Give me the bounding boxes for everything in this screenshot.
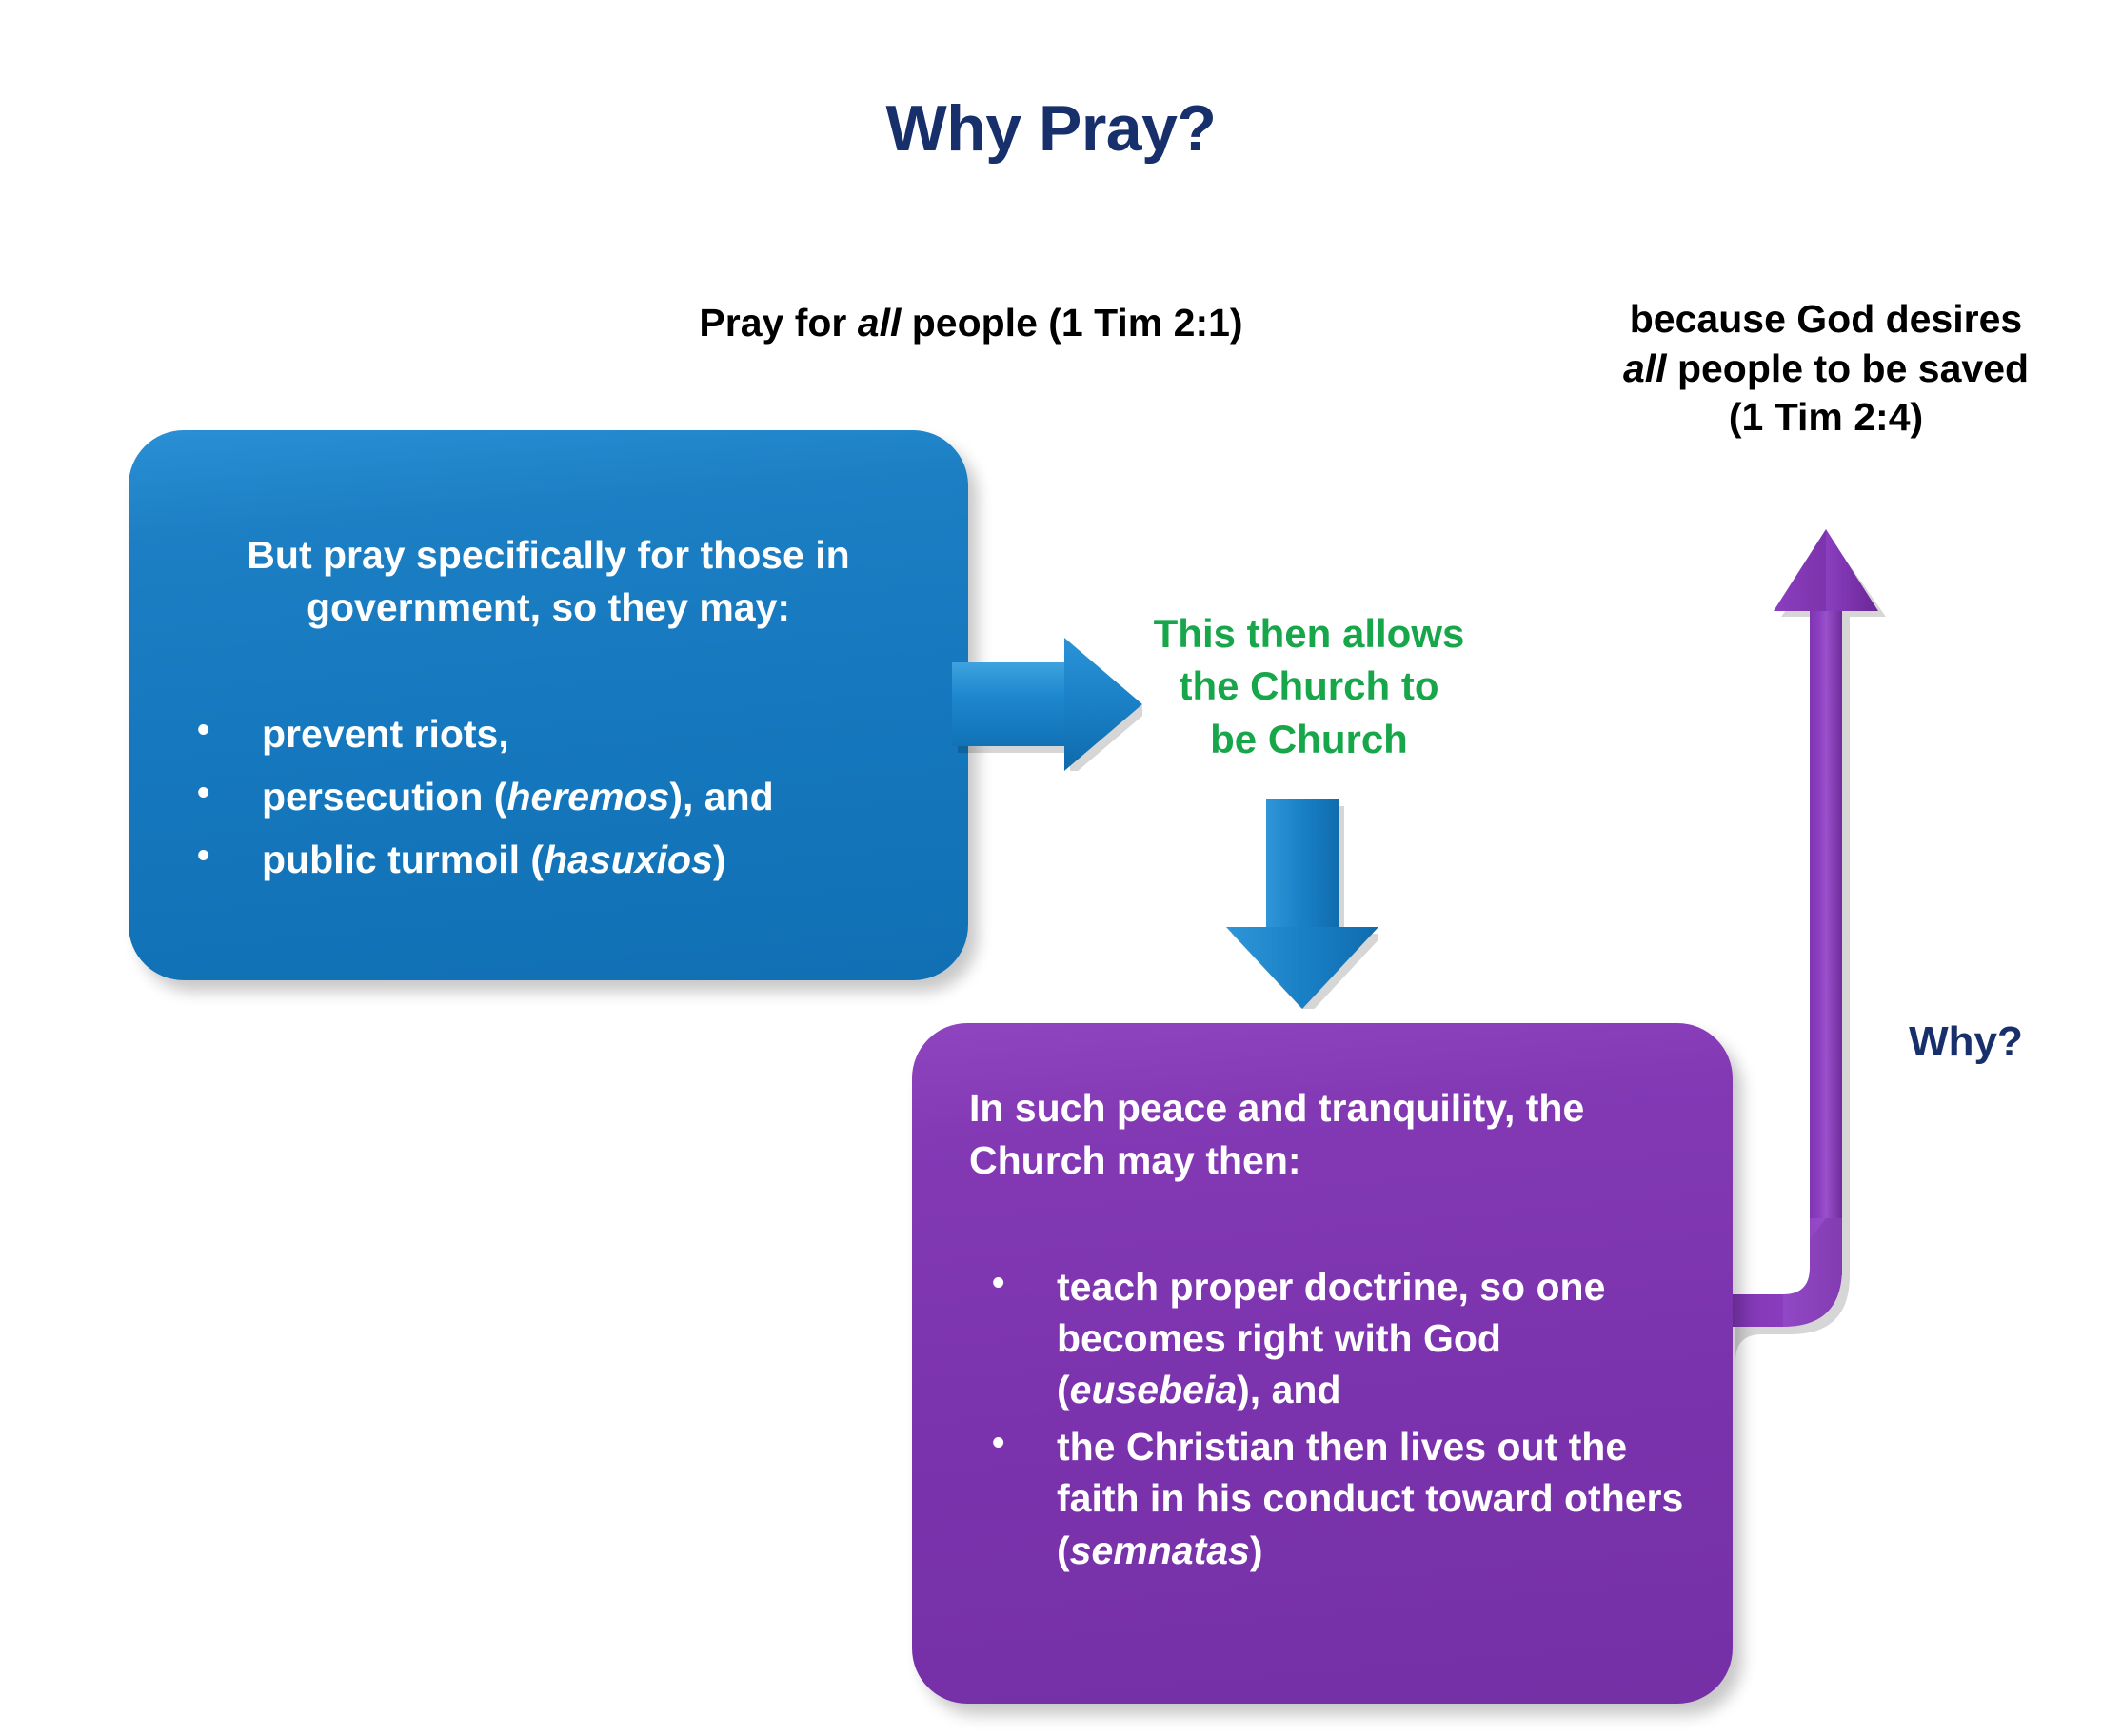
arrow-down-icon	[1226, 799, 1378, 1009]
green-note-church-be-church: This then allows the Church to be Church	[1104, 607, 1514, 765]
bullet-text: persecution (	[262, 775, 506, 819]
green-note-line1: This then allows	[1154, 611, 1465, 656]
bullet-text: prevent riots,	[262, 712, 509, 756]
bullet-italic: eusebeia	[1070, 1368, 1238, 1411]
blue-box-heading: But pray specifically for those in gover…	[172, 529, 924, 633]
list-item: teach proper doctrine, so one becomes ri…	[979, 1261, 1702, 1415]
purple-church-outcomes-box: In such peace and tranquility, the Churc…	[912, 1023, 1733, 1704]
bullet-italic: semnatas	[1070, 1529, 1250, 1572]
blue-government-prayer-box: But pray specifically for those in gover…	[129, 430, 968, 980]
caption-left-suffix: people (1 Tim 2:1)	[901, 301, 1242, 345]
slide-canvas: Why Pray? Pray for all people (1 Tim 2:1…	[0, 0, 2102, 1736]
list-item: persecution (heremos), and	[184, 771, 945, 822]
bullet-tail: )	[1250, 1529, 1263, 1572]
bullet-tail: ), and	[669, 775, 773, 819]
page-title: Why Pray?	[0, 91, 2102, 166]
caption-right-emphasis: all	[1623, 346, 1667, 390]
caption-right-line1: because God desires	[1630, 297, 2022, 341]
purple-box-heading: In such peace and tranquility, the Churc…	[969, 1082, 1693, 1186]
caption-god-desires: because God desires all people to be sav…	[1588, 295, 2064, 443]
purple-box-bullet-list: teach proper doctrine, so one becomes ri…	[979, 1261, 1702, 1582]
why-label: Why?	[1847, 1018, 2085, 1066]
caption-left-prefix: Pray for	[699, 301, 857, 345]
list-item: public turmoil (hasuxios)	[184, 834, 945, 885]
bullet-tail: )	[713, 838, 726, 881]
bullet-italic: heremos	[506, 775, 669, 819]
green-note-line3: be Church	[1210, 717, 1408, 761]
blue-box-bullet-list: prevent riots, persecution (heremos), an…	[184, 708, 945, 897]
caption-right-line3: (1 Tim 2:4)	[1729, 395, 1923, 439]
caption-pray-for-all: Pray for all people (1 Tim 2:1)	[609, 299, 1333, 348]
list-item: prevent riots,	[184, 708, 945, 759]
caption-right-line2-suffix: people to be saved	[1667, 346, 2030, 390]
green-note-line2: the Church to	[1180, 663, 1439, 708]
bullet-text: public turmoil (	[262, 838, 544, 881]
caption-left-emphasis: all	[858, 301, 902, 345]
list-item: the Christian then lives out the faith i…	[979, 1421, 1702, 1575]
bullet-italic: hasuxios	[544, 838, 713, 881]
bullet-tail: ), and	[1237, 1368, 1340, 1411]
